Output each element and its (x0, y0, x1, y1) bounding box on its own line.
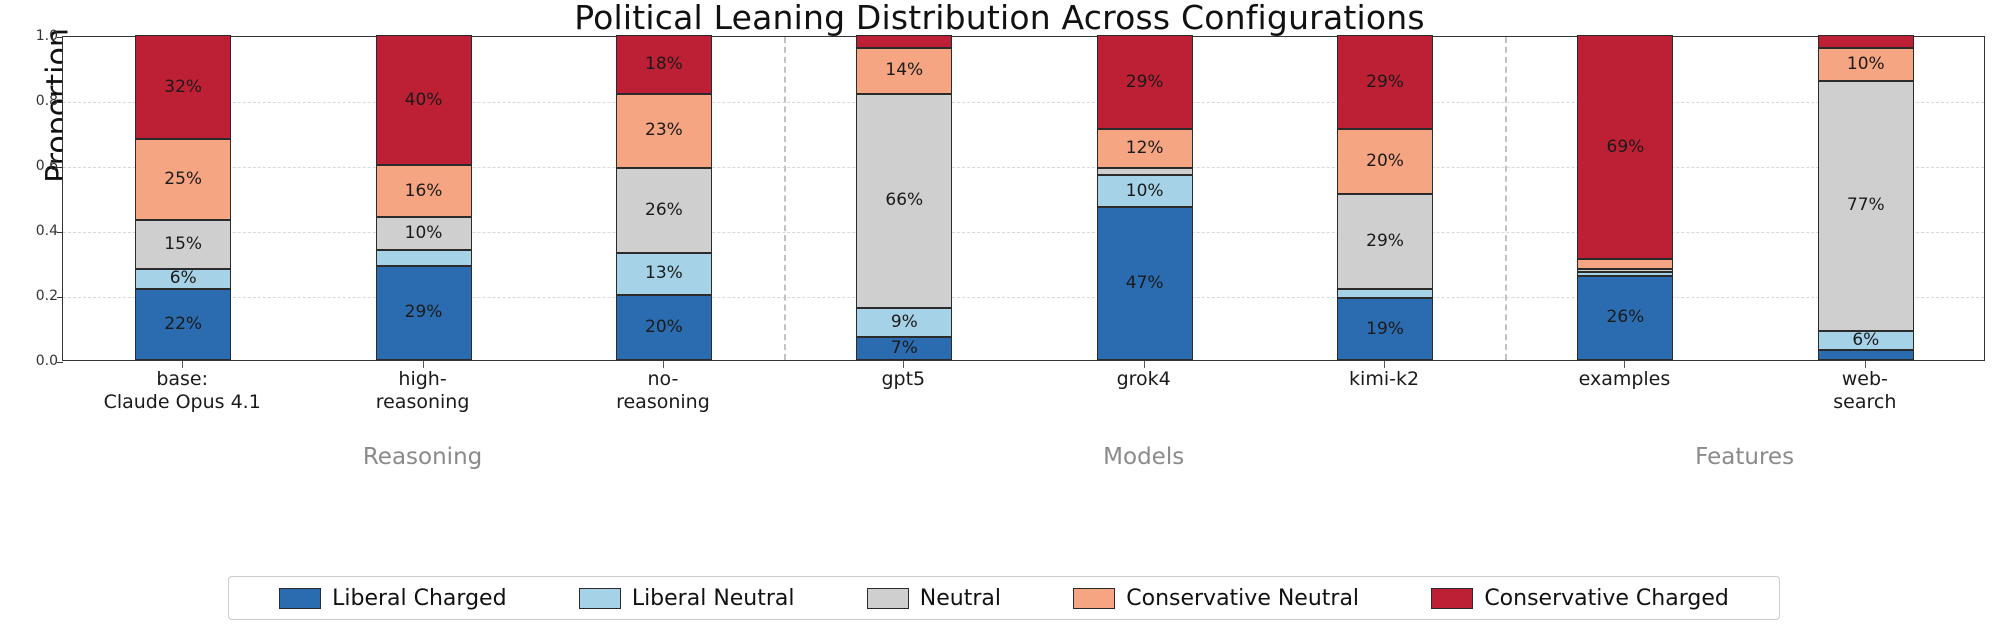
x-tick-mark (1624, 361, 1625, 368)
x-tick-mark (182, 361, 183, 368)
bar-segment[interactable]: 25% (135, 139, 231, 220)
bar-segment-label: 19% (1366, 321, 1404, 338)
bar-segment-label: 29% (1126, 74, 1164, 91)
bar-segment[interactable]: 20% (616, 295, 712, 360)
bar-segment-label: 23% (645, 122, 683, 139)
y-tick-label: 0.6 (0, 158, 58, 174)
y-gridline (63, 167, 1984, 168)
x-tick-mark (1144, 361, 1145, 368)
y-gridline (63, 232, 1984, 233)
y-tick-label: 0.2 (0, 288, 58, 304)
bar-segment[interactable]: 40% (376, 35, 472, 165)
legend-label: Liberal Charged (332, 586, 506, 611)
stacked-bar[interactable]: 20%13%26%23%18% (616, 35, 712, 360)
bar-segment[interactable]: 12% (1097, 129, 1193, 168)
legend-item[interactable]: Conservative Neutral (1073, 586, 1359, 611)
bar-segment[interactable] (1097, 168, 1193, 175)
legend-label: Liberal Neutral (632, 586, 795, 611)
group-label: Reasoning (223, 444, 623, 470)
bar-segment[interactable]: 47% (1097, 207, 1193, 360)
bar-segment-label: 10% (1126, 183, 1164, 200)
group-label: Features (1545, 444, 1945, 470)
legend-item[interactable]: Liberal Charged (279, 586, 506, 611)
x-tick-mark (663, 361, 664, 368)
bar-segment-label: 14% (885, 62, 923, 79)
legend-item[interactable]: Neutral (867, 586, 1001, 611)
bar-segment-label: 16% (405, 183, 443, 200)
x-tick-mark (1384, 361, 1385, 368)
bar-segment[interactable] (1577, 259, 1673, 269)
bar-segment[interactable]: 32% (135, 35, 231, 139)
bar-segment[interactable]: 29% (1337, 194, 1433, 288)
stacked-bar[interactable]: 22%6%15%25%32% (135, 35, 231, 360)
bar-segment[interactable]: 10% (376, 217, 472, 250)
legend-swatch (579, 588, 621, 609)
bar-segment[interactable] (1818, 35, 1914, 48)
legend-swatch (1431, 588, 1473, 609)
bar-segment[interactable]: 13% (616, 253, 712, 295)
group-separator (784, 37, 786, 360)
bar-segment[interactable]: 20% (1337, 129, 1433, 194)
y-gridline (63, 297, 1984, 298)
bar-segment[interactable]: 7% (856, 337, 952, 360)
stacked-bar[interactable]: 26%69% (1577, 35, 1673, 360)
bar-segment[interactable]: 77% (1818, 81, 1914, 331)
legend-label: Conservative Neutral (1126, 586, 1359, 611)
bar-segment-label: 10% (405, 225, 443, 242)
bar-segment[interactable]: 6% (135, 269, 231, 289)
legend-swatch (279, 588, 321, 609)
bar-segment-label: 22% (164, 316, 202, 333)
bar-segment-label: 26% (645, 202, 683, 219)
bar-segment[interactable] (856, 35, 952, 48)
bar-segment[interactable]: 18% (616, 35, 712, 94)
bar-segment[interactable]: 10% (1818, 48, 1914, 81)
legend-swatch (1073, 588, 1115, 609)
bar-segment[interactable]: 26% (616, 168, 712, 253)
x-tick-mark (903, 361, 904, 368)
bar-segment-label: 6% (170, 270, 197, 287)
y-tick-label: 0.4 (0, 223, 58, 239)
bar-segment-label: 29% (405, 304, 443, 321)
bar-segment[interactable]: 14% (856, 48, 952, 94)
bar-segment[interactable] (1577, 269, 1673, 272)
bar-segment-label: 9% (891, 314, 918, 331)
bar-segment-label: 40% (405, 92, 443, 109)
bar-segment-label: 26% (1607, 309, 1645, 326)
bar-segment-label: 29% (1366, 74, 1404, 91)
chart-container: Political Leaning Distribution Across Co… (0, 0, 1999, 633)
legend-label: Neutral (920, 586, 1001, 611)
bar-segment-label: 25% (164, 171, 202, 188)
x-tick-mark (1865, 361, 1866, 368)
bar-segment-label: 66% (885, 192, 923, 209)
bar-segment-label: 20% (1366, 153, 1404, 170)
bar-segment[interactable]: 69% (1577, 35, 1673, 259)
group-label: Models (944, 444, 1344, 470)
y-tick-label: 0.8 (0, 93, 58, 109)
bar-segment-label: 77% (1847, 197, 1885, 214)
chart-title: Political Leaning Distribution Across Co… (0, 0, 1999, 37)
bar-segment-label: 15% (164, 236, 202, 253)
bar-segment[interactable]: 9% (856, 308, 952, 337)
y-tick-label: 1.0 (0, 28, 58, 44)
bar-segment-label: 47% (1126, 275, 1164, 292)
legend-swatch (867, 588, 909, 609)
bar-segment-label: 20% (645, 319, 683, 336)
bar-segment[interactable]: 6% (1818, 331, 1914, 351)
bar-segment-label: 13% (645, 265, 683, 282)
group-separator (1505, 37, 1507, 360)
bar-segment-label: 12% (1126, 140, 1164, 157)
legend-item[interactable]: Liberal Neutral (579, 586, 795, 611)
bar-segment[interactable]: 29% (1337, 35, 1433, 129)
x-tick-mark (423, 361, 424, 368)
stacked-bar[interactable]: 47%10%12%29% (1097, 35, 1193, 360)
bar-segment[interactable] (1818, 350, 1914, 360)
bar-segment-label: 10% (1847, 56, 1885, 73)
bar-segment-label: 18% (645, 56, 683, 73)
bar-segment[interactable] (376, 250, 472, 266)
bar-segment[interactable]: 29% (1097, 35, 1193, 129)
bar-segment-label: 6% (1852, 332, 1879, 349)
bar-segment[interactable]: 29% (376, 266, 472, 360)
stacked-bar[interactable]: 6%77%10% (1818, 35, 1914, 360)
bar-segment-label: 29% (1366, 233, 1404, 250)
stacked-bar[interactable]: 7%9%66%14% (856, 35, 952, 360)
bar-segment[interactable] (1337, 289, 1433, 299)
bar-segment[interactable] (1577, 272, 1673, 275)
plot-area: 22%6%15%25%32%29%10%16%40%20%13%26%23%18… (62, 36, 1985, 361)
bar-segment[interactable]: 16% (376, 165, 472, 217)
stacked-bar[interactable]: 29%10%16%40% (376, 35, 472, 360)
stacked-bar[interactable]: 19%29%20%29% (1337, 35, 1433, 360)
bar-segment-label: 7% (891, 340, 918, 357)
chart-legend: Liberal ChargedLiberal NeutralNeutralCon… (228, 576, 1780, 620)
bar-segment[interactable]: 15% (135, 220, 231, 269)
x-tick-label: web- search (1705, 368, 1999, 414)
bar-segment-label: 69% (1607, 139, 1645, 156)
bar-segment[interactable]: 19% (1337, 298, 1433, 360)
y-tick-label: 0.0 (0, 353, 58, 369)
y-gridline (63, 102, 1984, 103)
legend-label: Conservative Charged (1484, 586, 1729, 611)
bar-segment[interactable]: 10% (1097, 175, 1193, 208)
bar-segment-label: 32% (164, 79, 202, 96)
bar-segment[interactable]: 66% (856, 94, 952, 309)
legend-item[interactable]: Conservative Charged (1431, 586, 1729, 611)
bar-segment[interactable]: 23% (616, 94, 712, 169)
bar-segment[interactable]: 22% (135, 289, 231, 361)
bar-segment[interactable]: 26% (1577, 276, 1673, 361)
